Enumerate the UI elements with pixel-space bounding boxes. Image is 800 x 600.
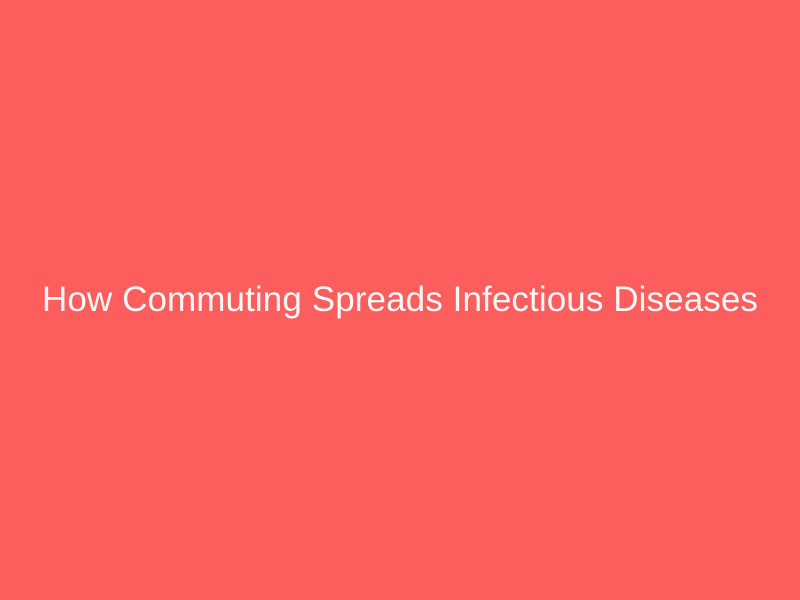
- page-title: How Commuting Spreads Infectious Disease…: [42, 278, 758, 322]
- title-card: How Commuting Spreads Infectious Disease…: [0, 0, 800, 600]
